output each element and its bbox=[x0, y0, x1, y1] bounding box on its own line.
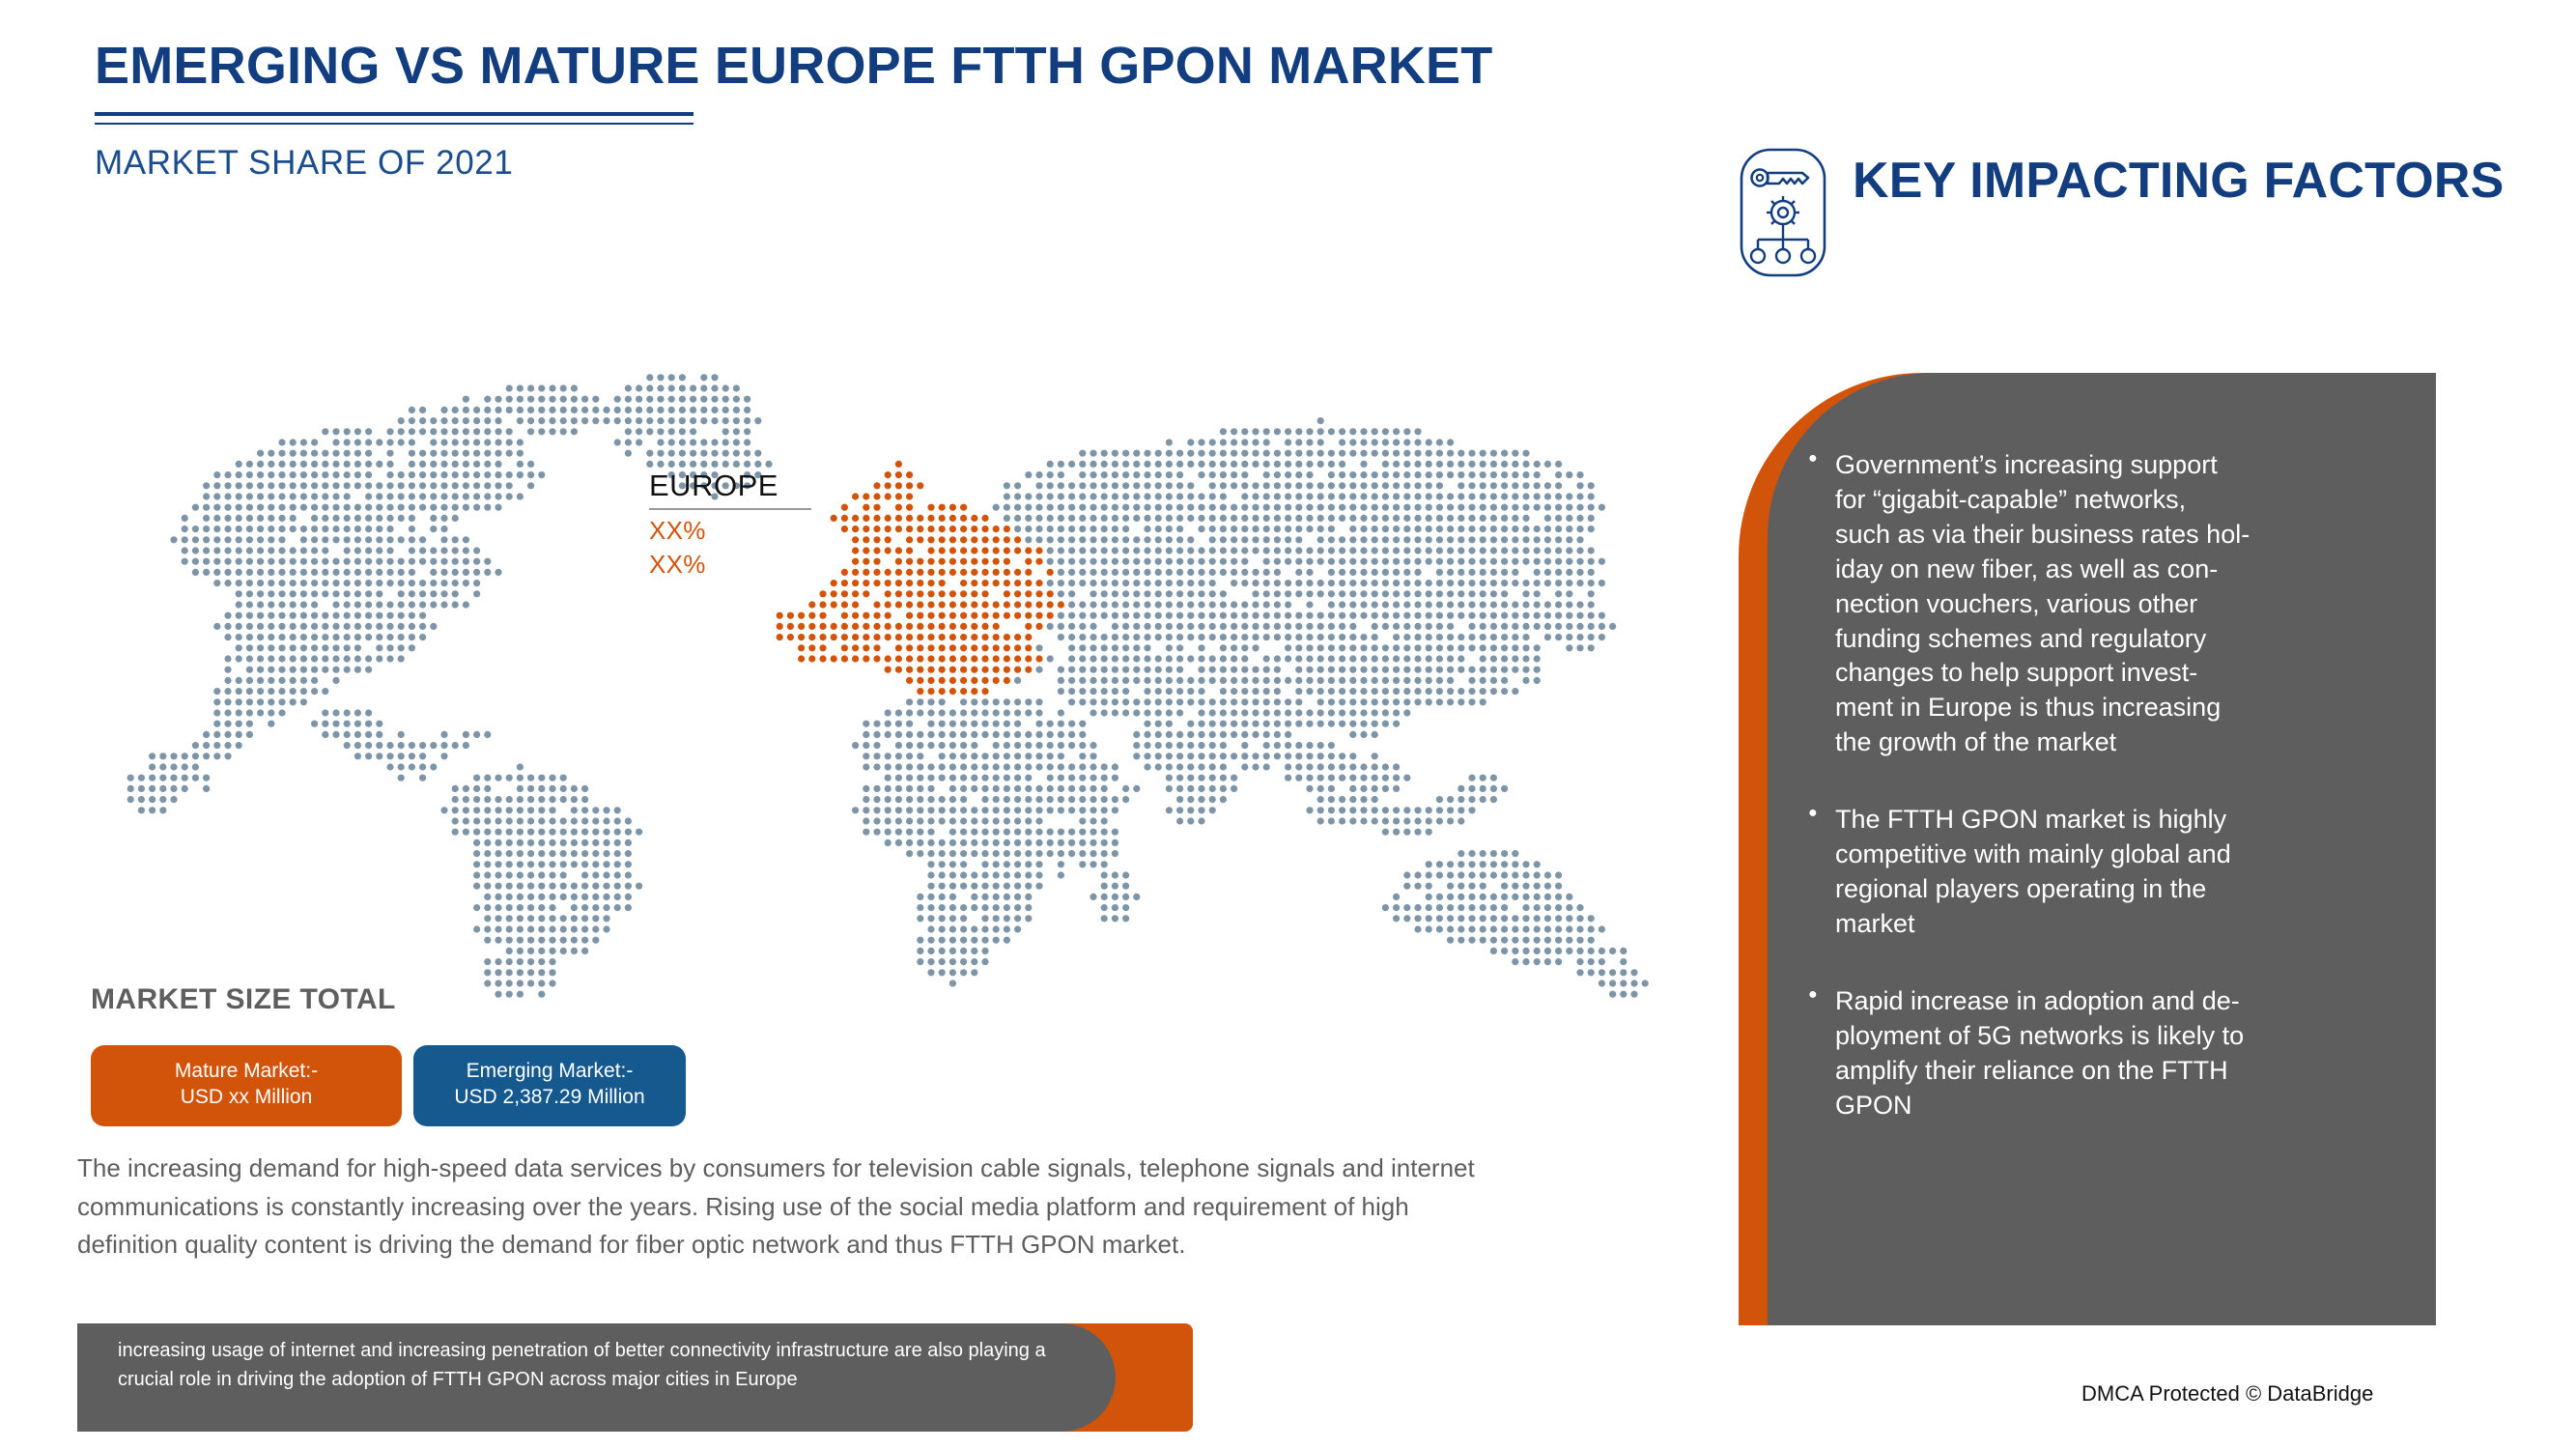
bullet-icon: ● bbox=[1808, 448, 1835, 760]
europe-label: EUROPE bbox=[649, 470, 823, 500]
market-size-heading: MARKET SIZE TOTAL bbox=[91, 983, 396, 1016]
key-impacting-factors-title: KEY IMPACTING FACTORS bbox=[1853, 155, 2505, 207]
bullet-icon: ● bbox=[1808, 984, 1835, 1123]
chip-mature-line2: USD xx Million bbox=[108, 1085, 384, 1111]
factors-list: ●Government’s increasing support for “gi… bbox=[1808, 448, 2388, 1165]
europe-value-2: XX% bbox=[649, 552, 823, 578]
bullet-icon: ● bbox=[1808, 803, 1835, 942]
footer-dmca-note: DMCA Protected © DataBridge bbox=[2081, 1381, 2373, 1406]
header-block: EMERGING VS MATURE EUROPE FTTH GPON MARK… bbox=[95, 37, 1543, 183]
lead-paragraph: The increasing demand for high-speed dat… bbox=[77, 1150, 1497, 1264]
chip-mature-line1: Mature Market:- bbox=[175, 1060, 318, 1082]
europe-underline bbox=[649, 508, 811, 510]
divider-rule-thin bbox=[95, 123, 694, 125]
callout-text: increasing usage of internet and increas… bbox=[118, 1337, 1093, 1394]
key-factors-panel: ●Government’s increasing support for “gi… bbox=[1739, 373, 2436, 1325]
factor-item: ●Government’s increasing support for “gi… bbox=[1808, 448, 2388, 760]
page-title: EMERGING VS MATURE EUROPE FTTH GPON MARK… bbox=[95, 37, 1505, 95]
factor-item: ●The FTTH GPON market is highly competit… bbox=[1808, 803, 2388, 942]
divider-rule-thick bbox=[95, 112, 694, 116]
chip-emerging-line1: Emerging Market:- bbox=[467, 1060, 634, 1082]
factor-item: ●Rapid increase in adoption and de- ploy… bbox=[1808, 984, 2388, 1123]
chip-mature-market[interactable]: Mature Market:- USD xx Million bbox=[91, 1045, 402, 1126]
bottom-callout: increasing usage of internet and increas… bbox=[77, 1323, 1193, 1432]
europe-callout: EUROPE XX% XX% bbox=[649, 470, 823, 579]
europe-value-1: XX% bbox=[649, 518, 823, 544]
factor-text: The FTTH GPON market is highly competiti… bbox=[1835, 803, 2388, 942]
chip-emerging-line2: USD 2,387.29 Million bbox=[431, 1085, 668, 1111]
key-gear-network-icon bbox=[1739, 147, 1827, 278]
world-map-svg bbox=[58, 328, 1681, 1005]
page-subtitle: MARKET SHARE OF 2021 bbox=[95, 144, 1543, 183]
chip-emerging-market[interactable]: Emerging Market:- USD 2,387.29 Million bbox=[413, 1045, 686, 1126]
world-dot-map bbox=[58, 328, 1681, 1005]
title-divider bbox=[95, 112, 694, 125]
market-size-chips: Mature Market:- USD xx Million Emerging … bbox=[91, 1045, 686, 1126]
factor-text: Government’s increasing support for “gig… bbox=[1835, 448, 2388, 760]
factor-text: Rapid increase in adoption and de- ploym… bbox=[1835, 984, 2388, 1123]
